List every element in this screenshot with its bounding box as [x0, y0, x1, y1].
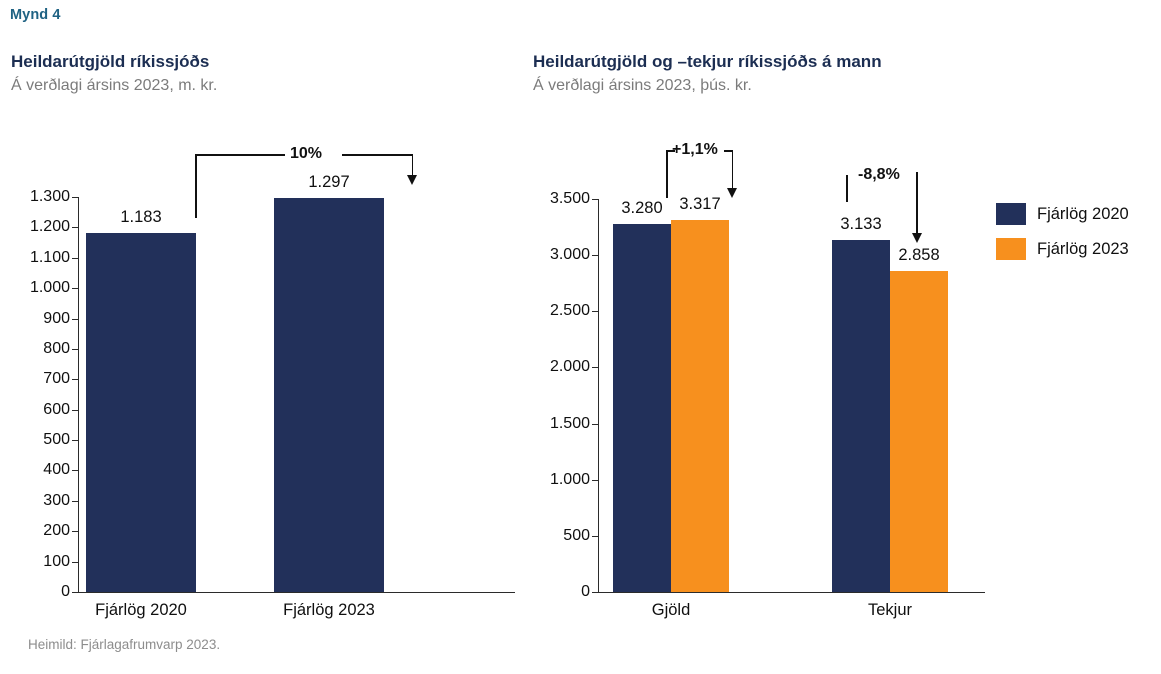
right-chart-title: Heildarútgjöld og –tekjur ríkissjóðs á m… [533, 52, 882, 72]
right-bar-value-label: 2.858 [869, 246, 969, 265]
right-y-tick-label: 1.000 [520, 471, 590, 489]
left-x-category-label: Fjárlög 2023 [239, 601, 419, 620]
right-y-tick-label: 2.500 [520, 302, 590, 320]
right-annotation-label-tekjur: -8,8% [858, 166, 900, 184]
right-y-tick-label: 2.000 [520, 358, 590, 376]
left-bars-layer [78, 197, 515, 592]
left-y-tick-label: 1.000 [0, 279, 70, 297]
legend-item-fjarlog-2023[interactable]: Fjárlög 2023 [996, 238, 1129, 260]
left-annotation-label: 10% [290, 145, 322, 163]
left-x-axis-line [78, 592, 515, 593]
left-y-tick-label: 700 [0, 370, 70, 388]
left-y-tick-label: 0 [0, 583, 70, 601]
chart-legend: Fjárlög 2020 Fjárlög 2023 [996, 203, 1129, 273]
right-bar [890, 271, 948, 592]
right-y-tick-label: 3.000 [520, 246, 590, 264]
legend-swatch-navy [996, 203, 1026, 225]
left-bar [86, 233, 196, 592]
left-y-tick-label: 600 [0, 401, 70, 419]
right-y-tick-label: 1.500 [520, 415, 590, 433]
legend-label-fjarlog-2020: Fjárlög 2020 [1037, 205, 1129, 224]
left-y-tick-label: 900 [0, 310, 70, 328]
right-x-category-label: Tekjur [800, 601, 980, 620]
right-y-tick-label: 500 [520, 527, 590, 545]
legend-swatch-orange [996, 238, 1026, 260]
legend-label-fjarlog-2023: Fjárlög 2023 [1037, 240, 1129, 259]
source-note: Heimild: Fjárlagafrumvarp 2023. [28, 637, 220, 652]
right-x-axis-line [598, 592, 985, 593]
left-chart-title: Heildarútgjöld ríkissjóðs [11, 52, 217, 72]
left-y-tick-label: 1.200 [0, 218, 70, 236]
left-bar-value-label: 1.183 [81, 208, 201, 227]
left-y-tick-label: 300 [0, 492, 70, 510]
left-panel-header: Heildarútgjöld ríkissjóðs Á verðlagi árs… [11, 52, 217, 95]
right-x-category-label: Gjöld [581, 601, 761, 620]
left-bar-value-label: 1.297 [269, 173, 389, 192]
right-annotation-label-gjold: +1,1% [672, 141, 718, 159]
right-panel-header: Heildarútgjöld og –tekjur ríkissjóðs á m… [533, 52, 882, 95]
right-bar [671, 220, 729, 592]
right-chart-subtitle: Á verðlagi ársins 2023, þús. kr. [533, 77, 882, 95]
left-y-tick-label: 100 [0, 553, 70, 571]
right-bar-chart: 05001.0001.5002.0002.5003.0003.500 3.280… [520, 130, 996, 630]
left-y-tick-label: 500 [0, 431, 70, 449]
right-y-tick-label: 0 [520, 583, 590, 601]
right-bar [832, 240, 890, 592]
left-y-tick-label: 1.300 [0, 188, 70, 206]
left-x-category-label: Fjárlög 2020 [51, 601, 231, 620]
right-y-tick-label: 3.500 [520, 190, 590, 208]
left-bar-chart: 01002003004005006007008009001.0001.1001.… [0, 130, 520, 630]
right-bar-value-label: 3.133 [811, 215, 911, 234]
figure-label: Mynd 4 [10, 7, 61, 23]
left-bar [274, 198, 384, 592]
left-y-tick-label: 1.100 [0, 249, 70, 267]
left-y-tick-label: 400 [0, 461, 70, 479]
right-bar [613, 224, 671, 592]
left-y-tick-label: 800 [0, 340, 70, 358]
left-y-tick-label: 200 [0, 522, 70, 540]
left-chart-subtitle: Á verðlagi ársins 2023, m. kr. [11, 77, 217, 95]
legend-item-fjarlog-2020[interactable]: Fjárlög 2020 [996, 203, 1129, 225]
